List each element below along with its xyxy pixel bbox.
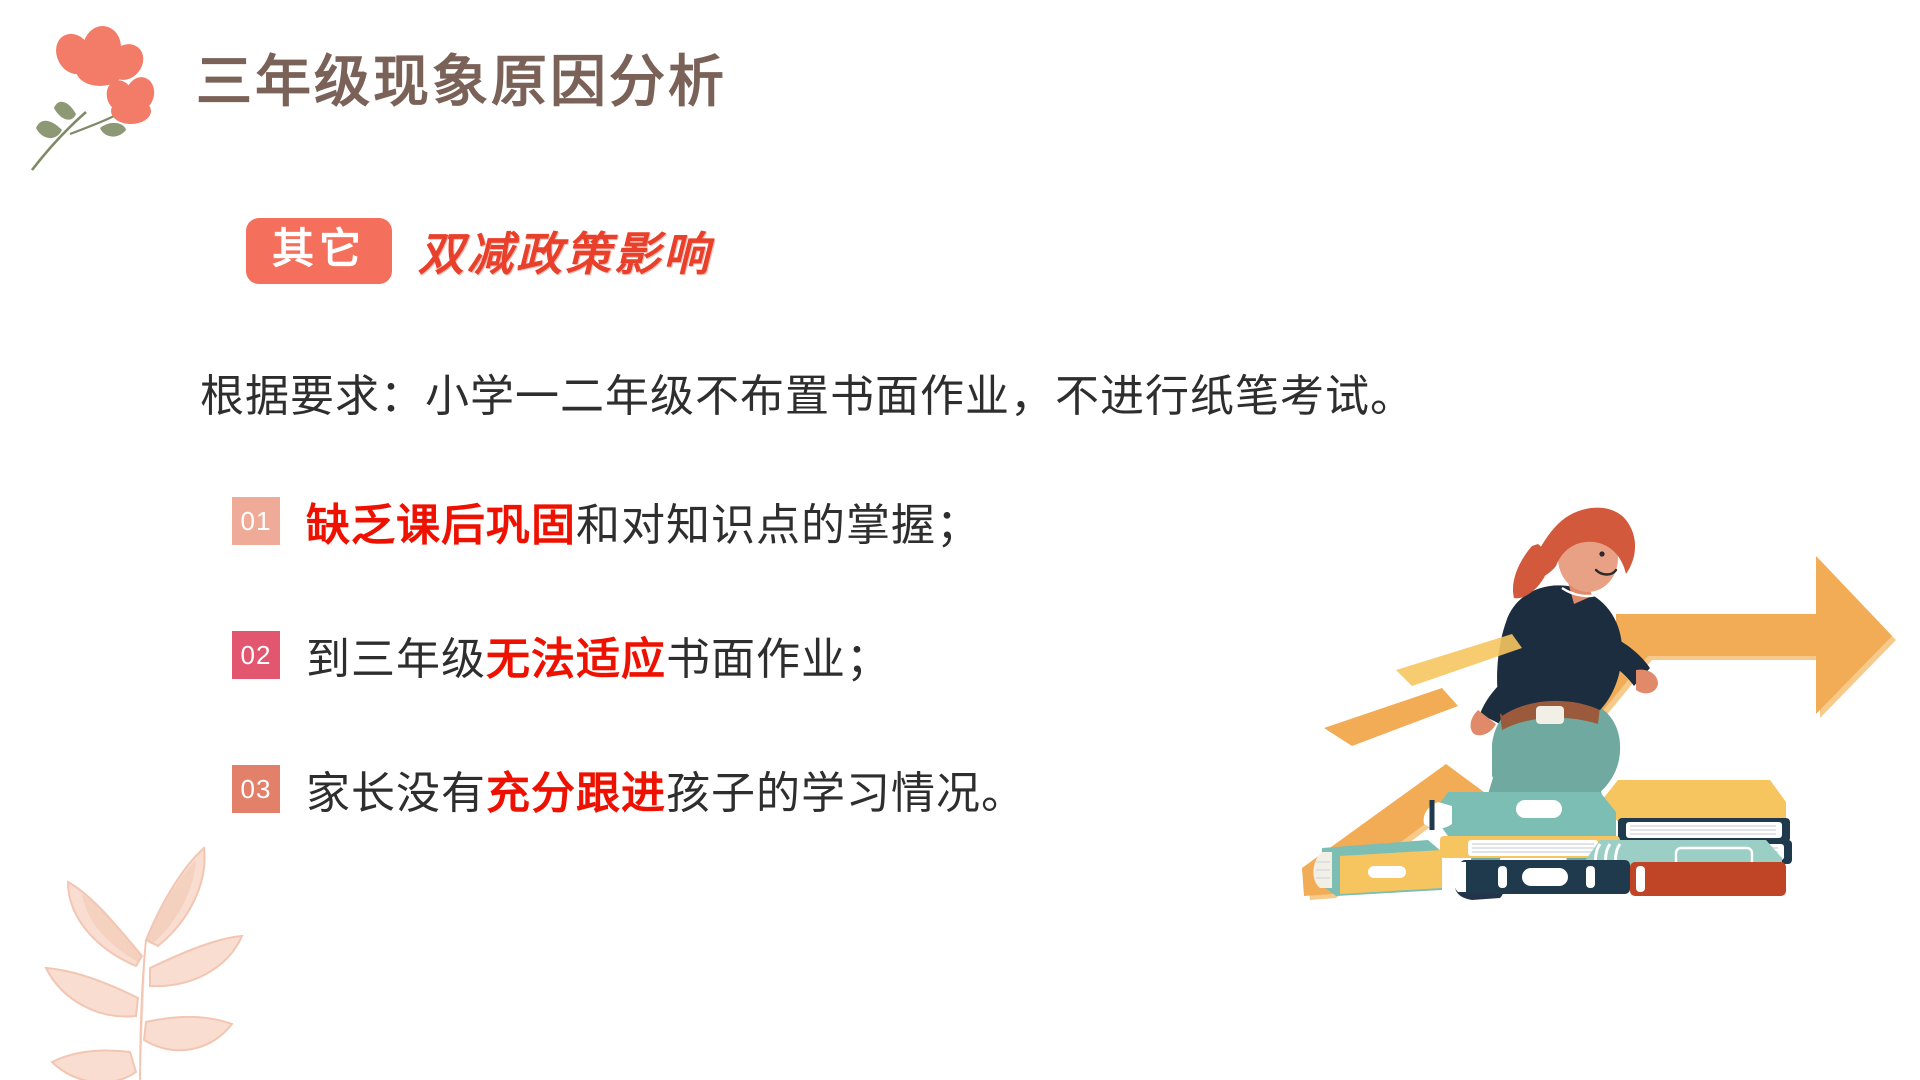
point-text: 缺乏课后巩固和对知识点的掌握；: [306, 489, 981, 553]
point-rest: 和对知识点的掌握；: [576, 501, 981, 550]
point-rest: 书面作业；: [666, 635, 891, 684]
point-number-badge: 02: [232, 631, 280, 679]
point-prefix: 家长没有: [306, 769, 486, 818]
list-item: 01 缺乏课后巩固和对知识点的掌握；: [232, 485, 1262, 557]
person-climbing-books-icon: [1300, 500, 1910, 920]
subtitle-badge: 其它: [246, 218, 392, 283]
lead-paragraph: 根据要求：小学一二年级不布置书面作业，不进行纸笔考试。: [200, 360, 1415, 424]
section-subtitle: 其它 双减政策影响: [246, 218, 712, 284]
flower-icon: [14, 18, 184, 178]
point-prefix: 到三年级: [306, 635, 486, 684]
list-item: 02 到三年级无法适应书面作业；: [232, 619, 1262, 691]
point-highlight: 缺乏课后巩固: [306, 500, 576, 551]
points-list: 01 缺乏课后巩固和对知识点的掌握； 02 到三年级无法适应书面作业； 03 家…: [232, 485, 1262, 887]
subtitle-heading: 双减政策影响: [418, 218, 712, 284]
point-highlight: 无法适应: [486, 634, 666, 685]
point-number-badge: 03: [232, 765, 280, 813]
point-rest: 孩子的学习情况。: [666, 769, 1026, 818]
list-item: 03 家长没有充分跟进孩子的学习情况。: [232, 753, 1262, 825]
point-highlight: 充分跟进: [486, 768, 666, 819]
page-header: 三年级现象原因分析: [196, 42, 1096, 124]
point-number-badge: 01: [232, 497, 280, 545]
page-title: 三年级现象原因分析: [196, 55, 727, 111]
point-text: 家长没有充分跟进孩子的学习情况。: [306, 757, 1026, 821]
point-text: 到三年级无法适应书面作业；: [306, 623, 891, 687]
